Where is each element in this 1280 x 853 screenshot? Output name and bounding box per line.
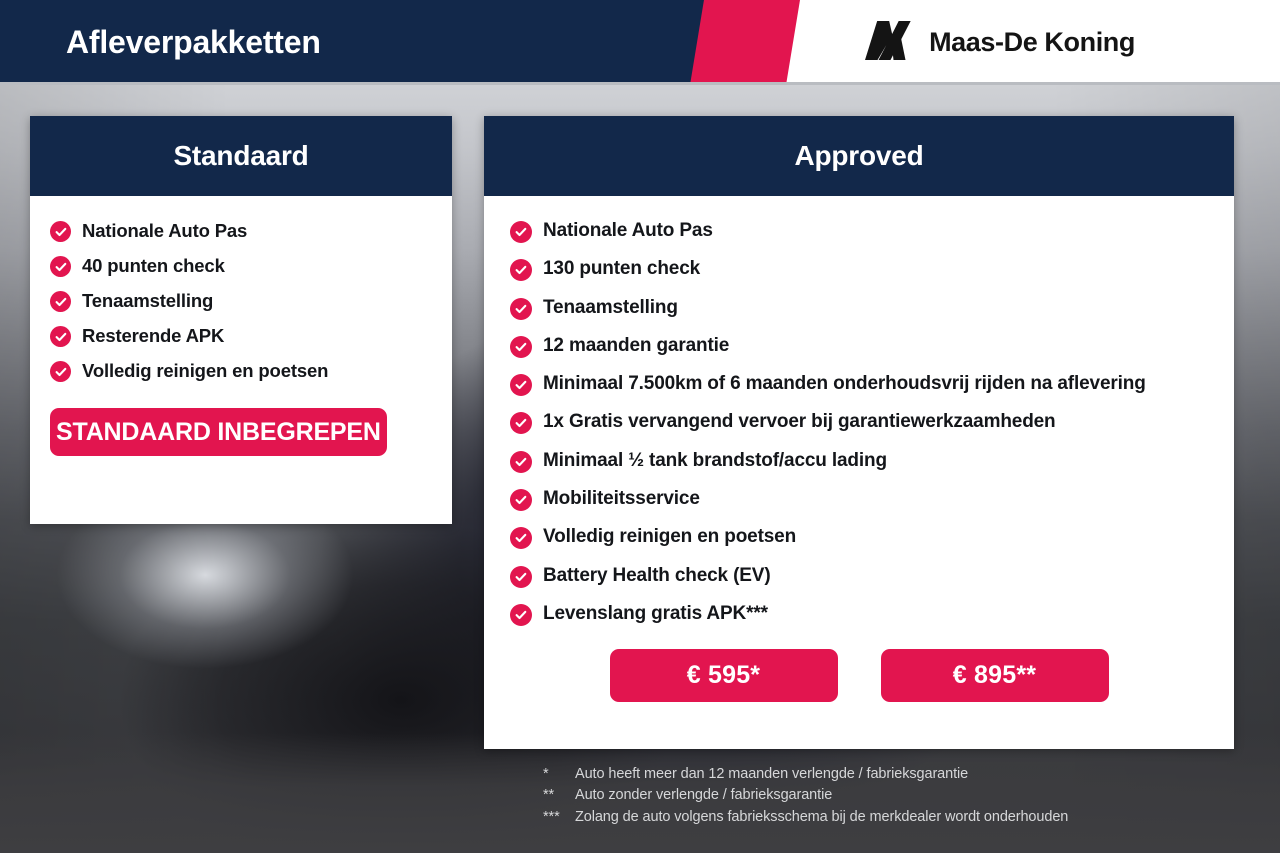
card-body-approved: Nationale Auto Pas 130 punten check Tena…: [484, 196, 1234, 702]
header-pink-accent-stripe: [690, 0, 800, 85]
package-card-standaard: Standaard Nationale Auto Pas 40 punten c…: [30, 116, 452, 524]
card-header-standaard: Standaard: [30, 116, 452, 196]
check-circle-icon: [510, 336, 532, 358]
feature-list-approved: Nationale Auto Pas 130 punten check Tena…: [484, 218, 1234, 628]
footnotes-block: * Auto heeft meer dan 12 maanden verleng…: [543, 764, 1068, 828]
list-item-label: Battery Health check (EV): [543, 563, 771, 590]
check-circle-icon: [510, 298, 532, 320]
check-circle-icon: [510, 566, 532, 588]
price-button-row: € 595* € 895**: [484, 649, 1234, 702]
footnote-marker: **: [543, 785, 575, 806]
list-item: Battery Health check (EV): [484, 563, 1234, 590]
check-circle-icon: [510, 221, 532, 243]
list-item-label: Tenaamstelling: [543, 295, 678, 322]
check-circle-icon: [50, 291, 71, 312]
check-circle-icon: [510, 412, 532, 434]
footnote-row: * Auto heeft meer dan 12 maanden verleng…: [543, 764, 1068, 785]
list-item: 12 maanden garantie: [484, 333, 1234, 360]
list-item: Tenaamstelling: [484, 295, 1234, 322]
list-item: Nationale Auto Pas: [484, 218, 1234, 245]
card-title-standaard: Standaard: [173, 140, 308, 172]
check-circle-icon: [510, 374, 532, 396]
page-header: Afleverpakketten Maas-De Koning: [0, 0, 1280, 85]
poster-canvas: Afleverpakketten Maas-De Koning Standaar…: [0, 0, 1280, 853]
list-item-label: Nationale Auto Pas: [82, 218, 247, 244]
check-circle-icon: [510, 527, 532, 549]
feature-list-standaard: Nationale Auto Pas 40 punten check Tenaa…: [30, 218, 452, 384]
list-item-label: 40 punten check: [82, 253, 225, 279]
check-circle-icon: [50, 326, 71, 347]
list-item-label: Resterende APK: [82, 323, 224, 349]
list-item-label: Minimaal ½ tank brandstof/accu lading: [543, 448, 887, 475]
list-item: Levenslang gratis APK***: [484, 601, 1234, 628]
list-item-label: Volledig reinigen en poetsen: [82, 358, 328, 384]
brand-lockup: Maas-De Koning: [864, 0, 1135, 85]
list-item-label: 12 maanden garantie: [543, 333, 729, 360]
list-item-label: Tenaamstelling: [82, 288, 213, 314]
price-button-895[interactable]: € 895**: [881, 649, 1109, 702]
list-item: Resterende APK: [30, 323, 452, 349]
check-circle-icon: [510, 451, 532, 473]
check-circle-icon: [510, 604, 532, 626]
list-item-label: Minimaal 7.500km of 6 maanden onderhouds…: [543, 371, 1146, 398]
check-circle-icon: [50, 256, 71, 277]
card-body-standaard: Nationale Auto Pas 40 punten check Tenaa…: [30, 196, 452, 456]
footnote-row: *** Zolang de auto volgens fabrieksschem…: [543, 807, 1068, 828]
list-item-label: 1x Gratis vervangend vervoer bij garanti…: [543, 409, 1056, 436]
check-circle-icon: [50, 221, 71, 242]
list-item: Tenaamstelling: [30, 288, 452, 314]
footnote-text: Zolang de auto volgens fabrieksschema bi…: [575, 807, 1068, 828]
brand-name: Maas-De Koning: [929, 27, 1135, 58]
list-item-label: 130 punten check: [543, 256, 700, 283]
footnote-marker: ***: [543, 807, 575, 828]
list-item: Volledig reinigen en poetsen: [30, 358, 452, 384]
list-item: Volledig reinigen en poetsen: [484, 524, 1234, 551]
check-circle-icon: [50, 361, 71, 382]
list-item: Minimaal ½ tank brandstof/accu lading: [484, 448, 1234, 475]
list-item-label: Volledig reinigen en poetsen: [543, 524, 796, 551]
footnote-text: Auto zonder verlengde / fabrieksgarantie: [575, 785, 832, 806]
card-title-approved: Approved: [794, 140, 923, 172]
list-item: Nationale Auto Pas: [30, 218, 452, 244]
check-circle-icon: [510, 489, 532, 511]
maas-de-koning-logo-icon: [864, 19, 916, 66]
header-underline: [0, 82, 1280, 85]
page-title: Afleverpakketten: [66, 0, 321, 85]
list-item-label: Nationale Auto Pas: [543, 218, 713, 245]
footnote-text: Auto heeft meer dan 12 maanden verlengde…: [575, 764, 968, 785]
list-item: 1x Gratis vervangend vervoer bij garanti…: [484, 409, 1234, 436]
price-button-595[interactable]: € 595*: [610, 649, 838, 702]
list-item: Minimaal 7.500km of 6 maanden onderhouds…: [484, 371, 1234, 398]
list-item: 130 punten check: [484, 256, 1234, 283]
list-item: Mobiliteitsservice: [484, 486, 1234, 513]
list-item-label: Mobiliteitsservice: [543, 486, 700, 513]
card-header-approved: Approved: [484, 116, 1234, 196]
standaard-inbegrepen-button[interactable]: STANDAARD INBEGREPEN: [50, 408, 387, 456]
package-card-approved: Approved Nationale Auto Pas 130 punten c…: [484, 116, 1234, 749]
check-circle-icon: [510, 259, 532, 281]
footnote-row: ** Auto zonder verlengde / fabrieksgaran…: [543, 785, 1068, 806]
list-item: 40 punten check: [30, 253, 452, 279]
list-item-label: Levenslang gratis APK***: [543, 601, 768, 628]
footnote-marker: *: [543, 764, 575, 785]
